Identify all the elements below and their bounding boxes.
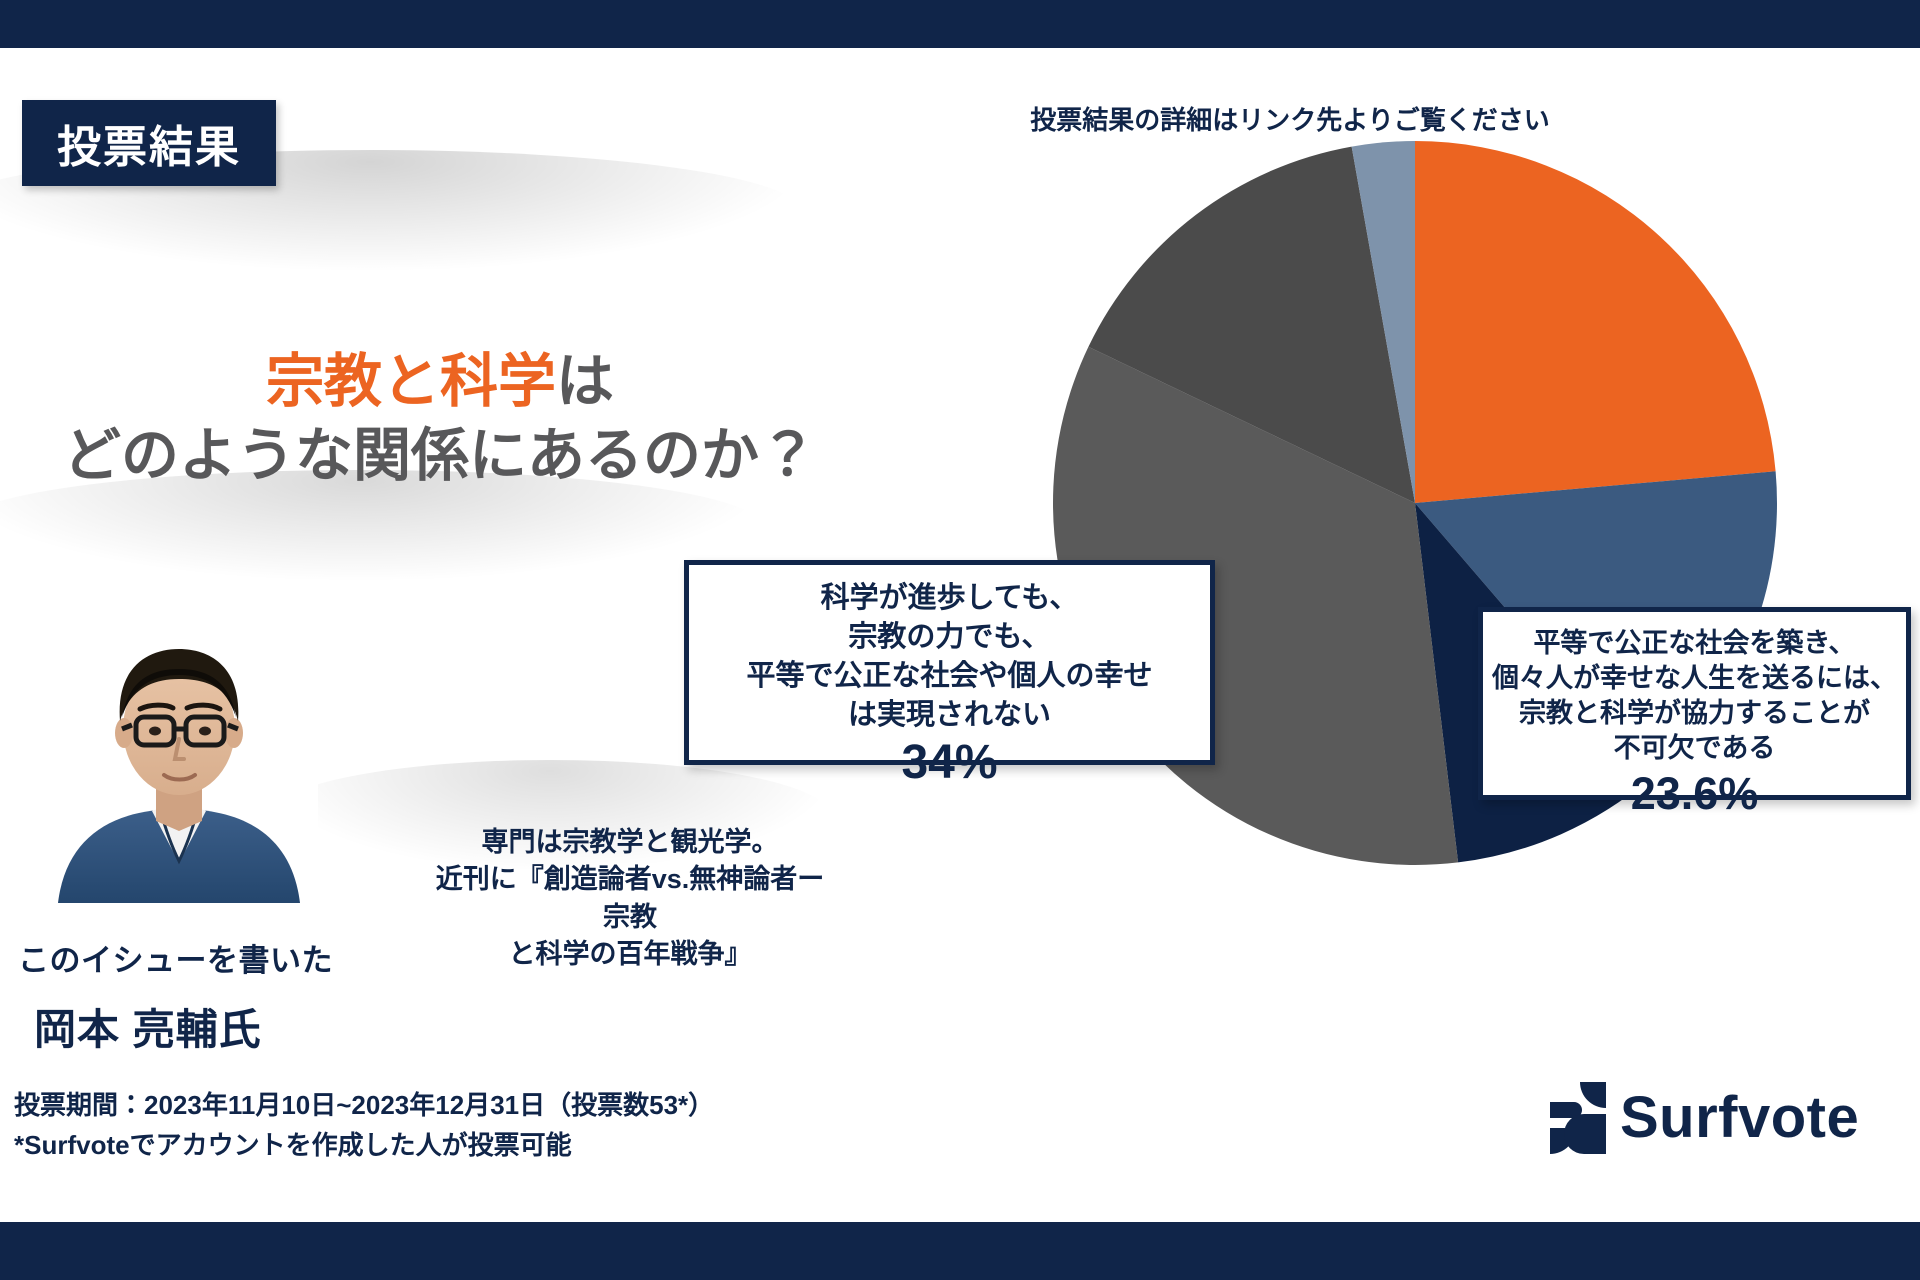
surfvote-logo-text: Surfvote (1620, 1089, 1859, 1147)
author-bio-line-1: 専門は宗教学と観光学。 (430, 824, 830, 861)
page-title: 宗教と科学は どのような関係にあるのか？ (0, 345, 880, 493)
author-portrait (40, 625, 318, 903)
callout-box-right: 平等で公正な社会を築き、 個々人が幸せな人生を送るには、 宗教と科学が協力するこ… (1478, 607, 1911, 800)
callout-left-percent: 34% (699, 736, 1200, 791)
callout-box-left: 科学が進歩しても、 宗教の力でも、 平等で公正な社会や個人の幸せ は実現されない… (684, 560, 1215, 765)
callout-right-line-2: 個々人が幸せな人生を送るには、 (1491, 661, 1898, 696)
account-note-text: *Surfvoteでアカウントを作成した人が投票可能 (14, 1126, 714, 1166)
bottom-navy-band (0, 1222, 1920, 1280)
author-bio: 専門は宗教学と観光学。 近刊に『創造論者vs.無神論者ー宗教 と科学の百年戦争』 (430, 824, 830, 973)
pie-slice (1415, 141, 1776, 503)
top-navy-band (0, 0, 1920, 48)
callout-right-line-4: 不可欠である (1491, 731, 1898, 766)
callout-right-percent: 23.6% (1491, 768, 1898, 819)
author-name: 岡本 亮輔氏 (34, 996, 262, 1057)
callout-left-lines: 科学が進歩しても、 宗教の力でも、 平等で公正な社会や個人の幸せ は実現されない (699, 579, 1200, 734)
slide-canvas: 投票結果 宗教と科学は どのような関係にあるのか？ (0, 0, 1920, 1280)
page-title-tail: は (556, 349, 614, 414)
callout-left-line-4: は実現されない (699, 696, 1200, 735)
surfvote-logo-icon (1550, 1082, 1606, 1154)
callout-left-line-2: 宗教の力でも、 (699, 618, 1200, 657)
wrote-this-issue-label: このイシューを書いた (18, 935, 333, 980)
callout-right-line-1: 平等で公正な社会を築き、 (1491, 626, 1898, 661)
author-bio-line-2: 近刊に『創造論者vs.無神論者ー宗教 (430, 861, 830, 936)
surfvote-logo: Surfvote (1550, 1082, 1859, 1154)
footer-notes: 投票期間：2023年11月10日~2023年12月31日（投票数53*） *Su… (14, 1086, 714, 1165)
vote-result-badge: 投票結果 (22, 100, 276, 186)
callout-right-line-3: 宗教と科学が協力することが (1491, 696, 1898, 731)
author-bio-line-3: と科学の百年戦争』 (430, 936, 830, 973)
callout-left-line-1: 科学が進歩しても、 (699, 579, 1200, 618)
callout-right-lines: 平等で公正な社会を築き、 個々人が幸せな人生を送るには、 宗教と科学が協力するこ… (1491, 626, 1898, 766)
callout-left-line-3: 平等で公正な社会や個人の幸せ (699, 657, 1200, 696)
page-title-line2: どのような関係にあるのか？ (0, 419, 880, 493)
voting-period-text: 投票期間：2023年11月10日~2023年12月31日（投票数53*） (14, 1086, 714, 1126)
page-title-highlight: 宗教と科学 (266, 349, 556, 414)
chart-note: 投票結果の詳細はリンク先よりご覧ください (1000, 100, 1580, 137)
